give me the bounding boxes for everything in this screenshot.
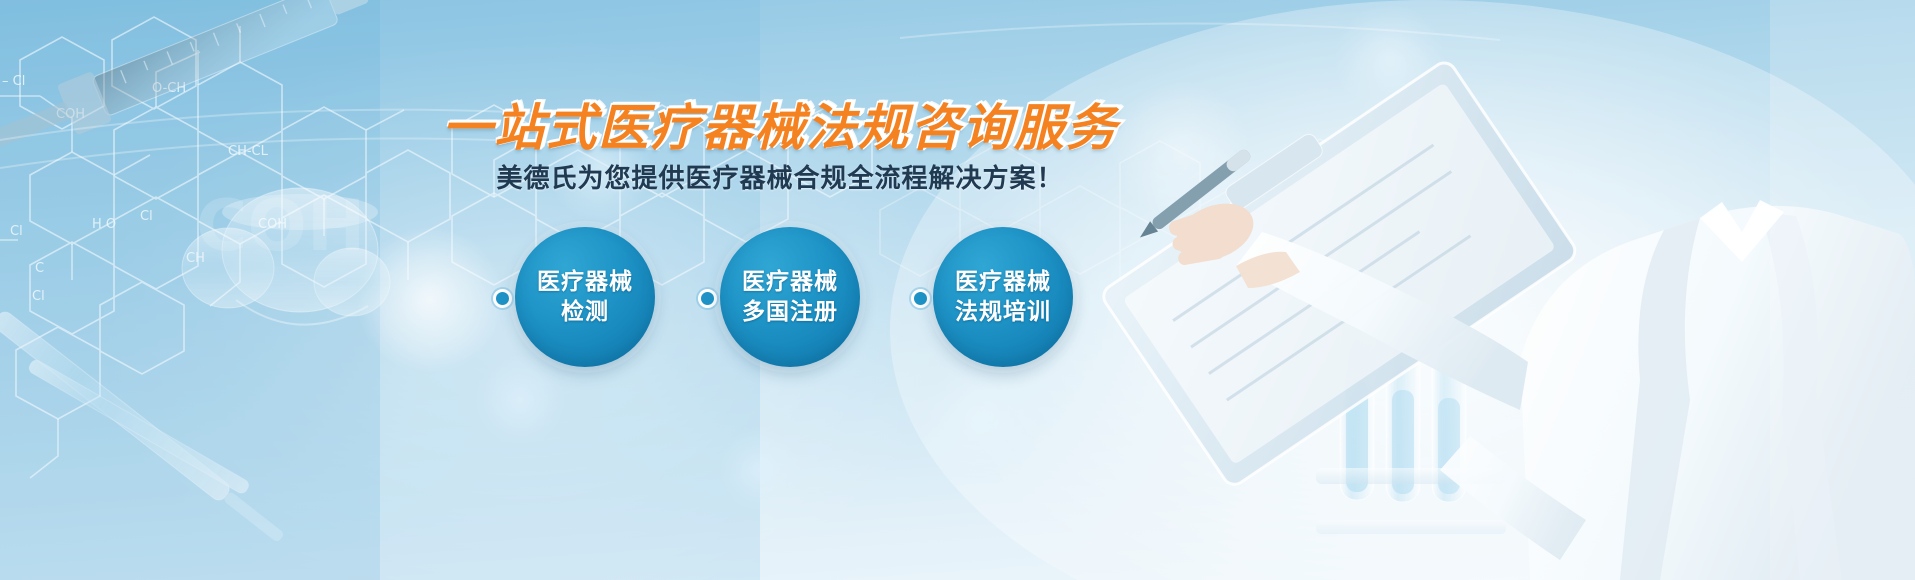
banner-headline: 一站式医疗器械法规咨询服务: [442, 88, 1118, 160]
service-badge-training-label: 医疗器械 法规培训: [955, 267, 1051, 328]
service-badge-testing[interactable]: 医疗器械 检测: [515, 227, 655, 367]
service-badge-testing-line2: 检测: [537, 297, 633, 327]
banner-content: 一站式医疗器械法规咨询服务 美德氏为您提供医疗器械合规全流程解决方案！ 医疗器械…: [0, 0, 1915, 580]
promo-banner: – Cl Cl O-CH COH CH-CL H O CH Cl C Cl CO…: [0, 0, 1915, 580]
service-badge-training[interactable]: 医疗器械 法规培训: [933, 227, 1073, 367]
service-badge-registration-label: 医疗器械 多国注册: [742, 267, 838, 328]
service-badge-registration[interactable]: 医疗器械 多国注册: [720, 227, 860, 367]
service-badge-group: 医疗器械 检测 医疗器械 多国注册 医疗器械 法规培训: [515, 227, 1075, 367]
subheadline-container: 美德氏为您提供医疗器械合规全流程解决方案！: [0, 158, 1560, 195]
service-badge-training-line1: 医疗器械: [955, 267, 1051, 297]
service-badge-registration-line1: 医疗器械: [742, 267, 838, 297]
service-badge-training-line2: 法规培训: [955, 297, 1051, 327]
banner-subheadline: 美德氏为您提供医疗器械合规全流程解决方案！: [496, 158, 1063, 195]
connector-node-1-icon: [493, 289, 512, 308]
connector-node-2-icon: [698, 289, 717, 308]
service-badge-testing-line1: 医疗器械: [537, 267, 633, 297]
connector-node-3-icon: [911, 289, 930, 308]
service-badge-registration-line2: 多国注册: [742, 297, 838, 327]
headline-container: 一站式医疗器械法规咨询服务: [0, 88, 1560, 160]
service-badge-testing-label: 医疗器械 检测: [537, 267, 633, 328]
